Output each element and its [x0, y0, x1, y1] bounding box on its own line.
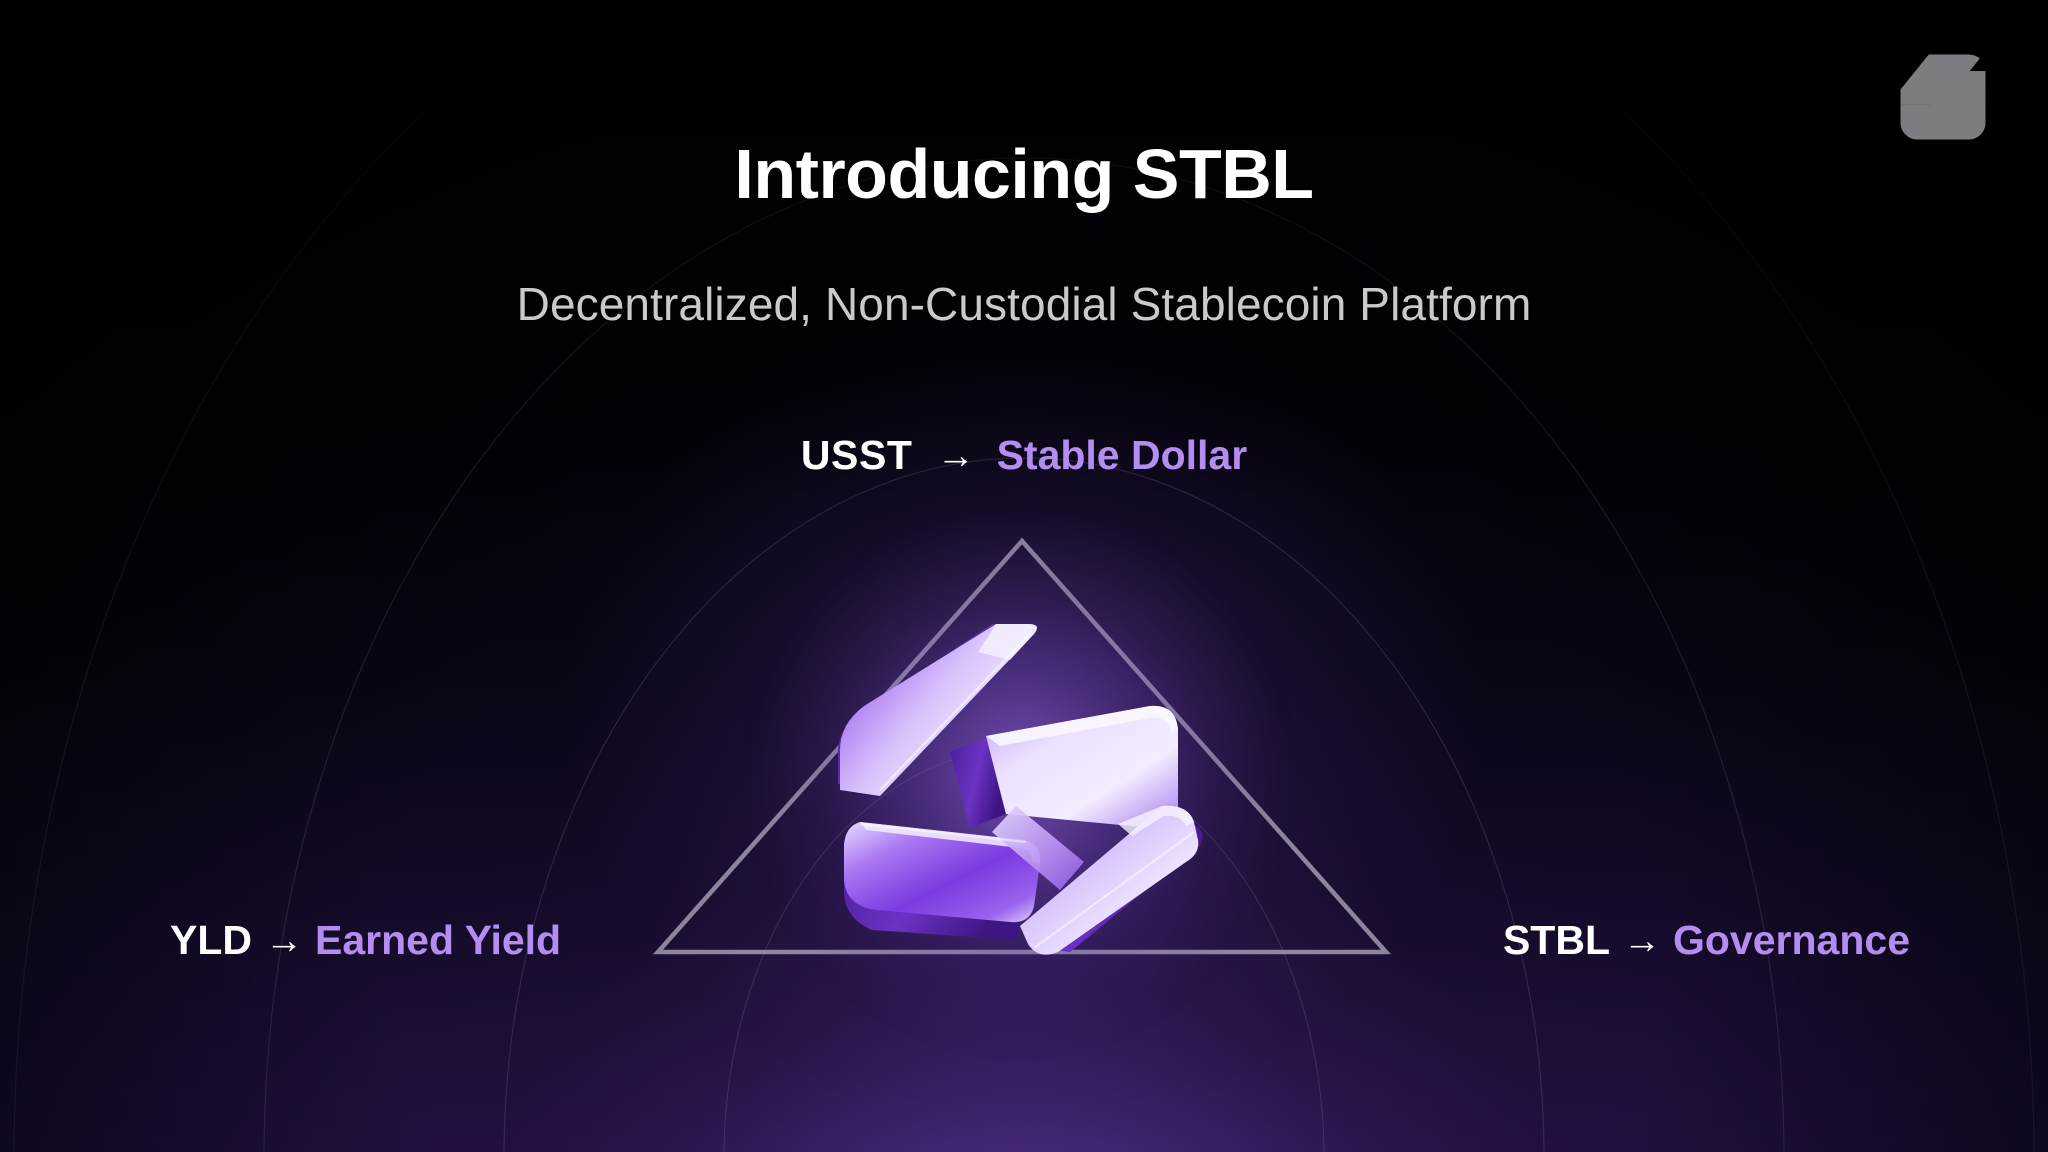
page-subtitle: Decentralized, Non-Custodial Stablecoin …	[0, 281, 2048, 327]
token-meaning-stbl: Governance	[1673, 920, 1910, 961]
arrow-right-icon: →	[937, 437, 975, 475]
stbl-3d-s-emblem-icon	[820, 600, 1220, 970]
token-symbol-usst: USST	[801, 435, 913, 476]
arrow-right-icon: →	[265, 922, 303, 960]
token-row-usst: USST → Stable Dollar	[0, 435, 2048, 476]
token-symbol-yld: YLD	[170, 920, 252, 961]
arrow-right-icon: →	[1623, 922, 1661, 960]
slide-canvas: Introducing STBL Decentralized, Non-Cust…	[0, 0, 2048, 1152]
page-title: Introducing STBL	[0, 139, 2048, 209]
token-row-yld: YLD → Earned Yield	[170, 920, 561, 961]
token-row-stbl: STBL → Governance	[1503, 920, 1910, 961]
token-meaning-yld: Earned Yield	[315, 920, 561, 961]
token-symbol-stbl: STBL	[1503, 920, 1610, 961]
token-meaning-usst: Stable Dollar	[997, 435, 1248, 476]
